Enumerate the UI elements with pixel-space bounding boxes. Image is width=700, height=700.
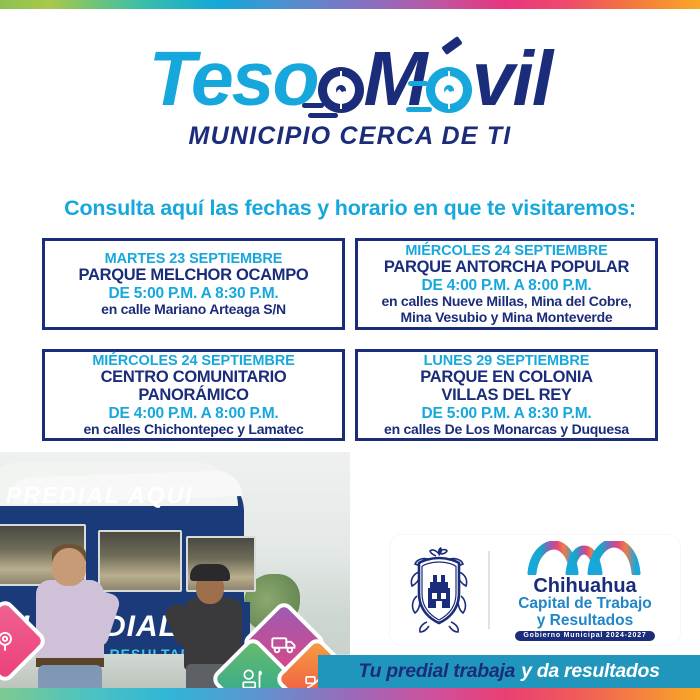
card-street: en calle Mariano Arteaga S/N (101, 302, 286, 318)
chihuahua-coat-of-arms-icon (390, 544, 488, 636)
card-hours: DE 5:00 P.M. A 8:30 P.M. (108, 285, 278, 302)
brand-tagline: MUNICIPIO CERCA DE TI (0, 122, 700, 151)
card-street-2: Mina Vesubio y Mina Monteverde (401, 310, 613, 326)
government-period-badge: Gobierno Municipal 2024-2027 (515, 631, 654, 641)
card-date: MARTES 23 SEPTIEMBRE (105, 251, 283, 267)
top-rainbow-bar (0, 0, 700, 9)
schedule-card[interactable]: MIÉRCOLES 24 SEPTIEMBRE CENTRO COMUNITAR… (42, 349, 345, 441)
chihuahua-slogan-2: y Resultados (537, 613, 633, 629)
schedule-card[interactable]: LUNES 29 SEPTIEMBRE PARQUE EN COLONIA VI… (355, 349, 658, 441)
schedule-card[interactable]: MIÉRCOLES 24 SEPTIEMBRE PARQUE ANTORCHA … (355, 238, 658, 330)
tire-icon-o-accent (426, 67, 472, 113)
card-date: MIÉRCOLES 24 SEPTIEMBRE (92, 353, 294, 369)
schedule-card[interactable]: MARTES 23 SEPTIEMBRE PARQUE MELCHOR OCAM… (42, 238, 345, 330)
card-street: en calles De Los Monarcas y Duquesa (384, 422, 629, 438)
footer-tagline-part2: y da resultados (521, 660, 660, 683)
photo-person-b-cap (190, 564, 230, 581)
card-place-2: PANORÁMICO (138, 387, 248, 405)
photo-van-window (98, 530, 182, 592)
photo-person-a-head (52, 548, 86, 586)
chihuahua-slogan-1: Capital de Trabajo (518, 596, 652, 612)
card-place: PARQUE MELCHOR OCAMPO (79, 267, 309, 285)
card-place: CENTRO COMUNITARIO (101, 369, 287, 387)
card-hours: DE 5:00 P.M. A 8:30 P.M. (421, 405, 591, 422)
footer-tagline-part1: Tu predial trabaja (358, 660, 515, 683)
schedule-grid: MARTES 23 SEPTIEMBRE PARQUE MELCHOR OCAM… (42, 238, 658, 441)
card-place: PARQUE EN COLONIA (420, 369, 592, 387)
bottom-rainbow-bar (0, 688, 700, 700)
chihuahua-mountains-icon (526, 541, 644, 575)
brand-word-vil: vil (472, 36, 552, 122)
chihuahua-city-name: Chihuahua (533, 576, 636, 596)
brand-logo: Teso M vil (0, 42, 700, 151)
card-date: MIÉRCOLES 24 SEPTIEMBRE (405, 243, 607, 259)
card-date: LUNES 29 SEPTIEMBRE (424, 353, 590, 369)
card-place-2: VILLAS DEL REY (441, 387, 571, 405)
card-hours: DE 4:00 P.M. A 8:00 P.M. (421, 277, 591, 294)
footer-tagline-banner: Tu predial trabaja y da resultados (318, 655, 700, 688)
brand-word-teso: Teso (149, 36, 318, 122)
institutional-logo-card: Chihuahua Capital de Trabajo y Resultado… (390, 535, 680, 645)
card-street: en calles Nueve Millas, Mina del Cobre, (381, 294, 631, 310)
poster-root: Teso M vil (0, 0, 700, 700)
card-place: PARQUE ANTORCHA POPULAR (384, 259, 629, 277)
brand-wordmark: Teso M vil (149, 42, 552, 116)
card-street: en calles Chichontepec y Lamatec (84, 422, 304, 438)
acute-accent-icon (441, 36, 462, 55)
photo-van-top-text: PREDIAL AQUI (6, 482, 194, 509)
photo-person-a-legs (38, 665, 102, 690)
chihuahua-brand: Chihuahua Capital de Trabajo y Resultado… (490, 539, 680, 641)
security-camera-icon (0, 614, 32, 668)
page-headline: Consulta aquí las fechas y horario en qu… (0, 196, 700, 221)
tire-icon-o (318, 67, 364, 113)
card-hours: DE 4:00 P.M. A 8:00 P.M. (108, 405, 278, 422)
